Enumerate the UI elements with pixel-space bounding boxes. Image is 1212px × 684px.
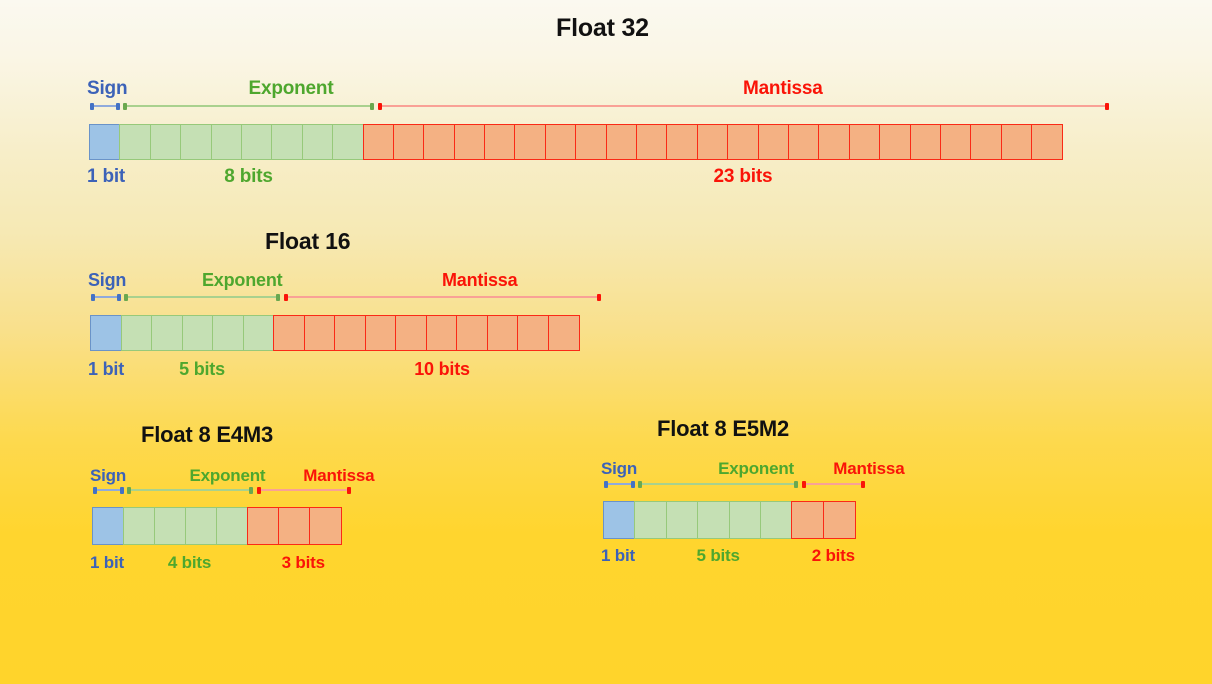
bracket-rule-mantissa-float8-e5m2	[802, 483, 865, 485]
bit-count-sign-float8-e5m2: 1 bit	[601, 546, 635, 566]
bit-cell-man	[791, 501, 824, 539]
section-label-mantissa-float8-e5m2: Mantissa	[833, 459, 904, 479]
bracket-rule-sign-float8-e5m2	[604, 483, 635, 485]
bit-cell-exp	[697, 501, 730, 539]
bit-count-exponent-float8-e5m2: 5 bits	[697, 546, 740, 566]
format-block-float8-e5m2: Float 8 E5M2 Sign Exponent Mantissa 1 bi…	[0, 0, 1212, 684]
diagram-canvas: Float 32 Sign Exponent Mantissa 1 bit 8 …	[0, 0, 1212, 684]
section-label-sign-float8-e5m2: Sign	[601, 459, 637, 479]
bit-cell-man	[823, 501, 856, 539]
bit-cell-exp	[666, 501, 699, 539]
bit-cell-sign	[603, 501, 636, 539]
bit-cell-exp	[729, 501, 762, 539]
section-label-exponent-float8-e5m2: Exponent	[718, 459, 794, 479]
bit-strip-float8-e5m2	[603, 501, 856, 539]
bracket-rule-exponent-float8-e5m2	[638, 483, 799, 485]
bit-cell-exp	[634, 501, 667, 539]
bit-count-mantissa-float8-e5m2: 2 bits	[812, 546, 855, 566]
bit-cell-exp	[760, 501, 793, 539]
format-title-float8-e5m2: Float 8 E5M2	[657, 416, 789, 442]
